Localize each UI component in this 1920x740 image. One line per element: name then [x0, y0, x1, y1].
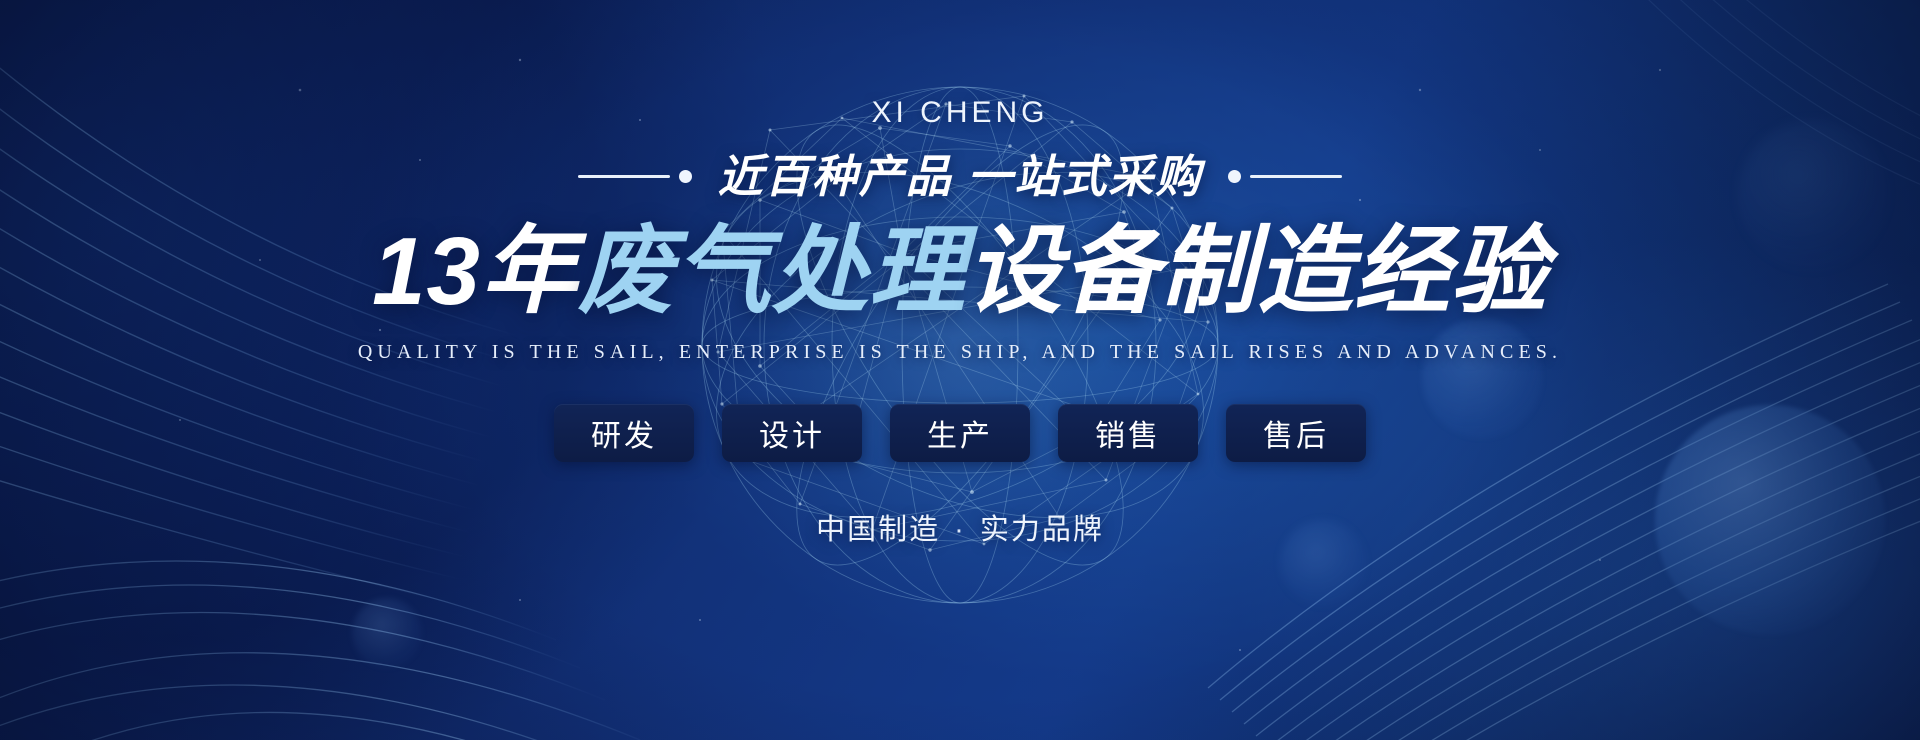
banner-content: XI CHENG 近百种产品 一站式采购 13年废气处理设备制造经验 QUALI…: [0, 0, 1920, 740]
decorative-line-left: [578, 170, 692, 183]
subtitle-en: QUALITY IS THE SAIL, ENTERPRISE IS THE S…: [358, 341, 1562, 364]
badge-rd[interactable]: 研发: [554, 404, 694, 462]
footer-right-text: 实力品牌: [980, 514, 1104, 546]
badge-aftersales[interactable]: 售后: [1226, 404, 1366, 462]
deco-dot-left: [679, 170, 692, 183]
badge-list: 研发 设计 生产 销售 售后: [554, 404, 1366, 462]
brand-name-en: XI CHENG: [871, 98, 1048, 128]
badge-design[interactable]: 设计: [722, 404, 862, 462]
deco-bar-right: [1250, 175, 1342, 178]
deco-bar-left: [578, 175, 670, 178]
headline-part-rest: 设备制造经验: [966, 218, 1548, 325]
tagline-text: 近百种产品 一站式采购: [718, 154, 1203, 199]
hero-banner: XI CHENG 近百种产品 一站式采购 13年废气处理设备制造经验 QUALI…: [0, 0, 1920, 740]
headline: 13年废气处理设备制造经验: [372, 221, 1548, 323]
headline-part-highlight: 废气处理: [578, 218, 966, 325]
tagline-row: 近百种产品 一站式采购: [578, 154, 1343, 199]
footer-separator: ·: [940, 514, 980, 546]
decorative-line-right: [1228, 170, 1342, 183]
footer-left-text: 中国制造: [816, 514, 940, 546]
headline-part-years: 13年: [372, 218, 578, 325]
badge-sales[interactable]: 销售: [1058, 404, 1198, 462]
footer-tagline: 中国制造·实力品牌: [816, 506, 1104, 548]
deco-dot-right: [1228, 170, 1241, 183]
badge-production[interactable]: 生产: [890, 404, 1030, 462]
